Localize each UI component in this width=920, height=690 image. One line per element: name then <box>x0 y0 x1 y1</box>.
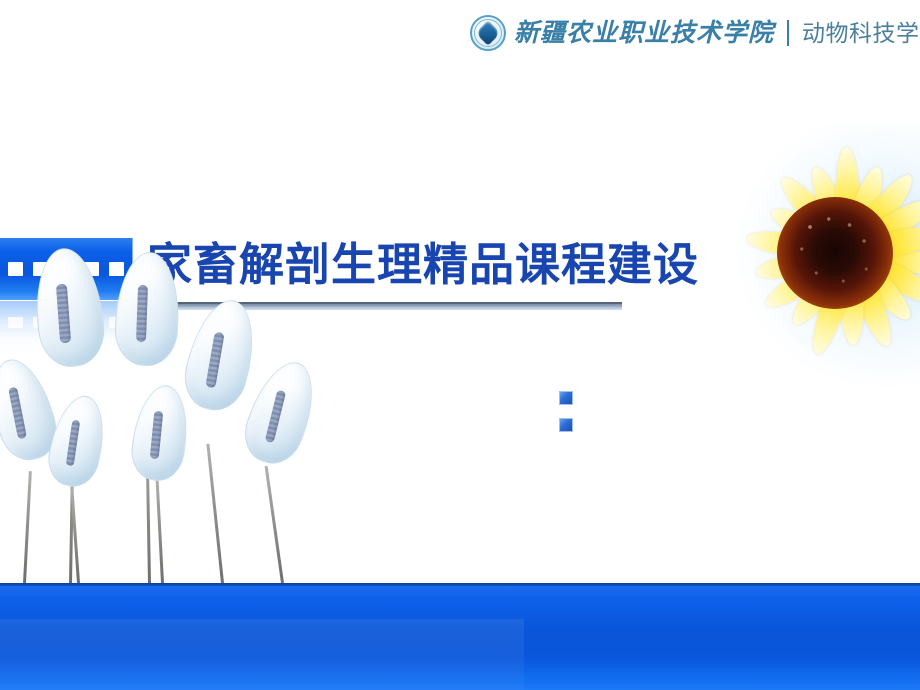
sunflower-petal <box>804 163 861 257</box>
sunflower-petal <box>838 252 865 345</box>
department-name: 动物科技学院 <box>802 22 920 45</box>
sunflower-petal <box>848 219 920 264</box>
peace-lily-stem <box>265 466 284 583</box>
sunflower-graphic <box>727 118 920 388</box>
film-strip-bar <box>0 238 133 300</box>
sunflower-glow <box>737 123 920 388</box>
logo-divider <box>787 20 789 46</box>
sunflower-petal <box>785 245 859 331</box>
sunflower-petal <box>745 226 851 264</box>
sunflower-petal <box>839 163 890 256</box>
sunflower-petal <box>754 241 853 284</box>
film-strip-bar-reflection <box>0 301 133 355</box>
sunflower-petal <box>839 248 899 350</box>
sunflower-petal <box>844 242 920 312</box>
peace-lily-spathe <box>236 353 327 472</box>
peace-lily-flower <box>252 348 310 583</box>
film-strip-hole <box>109 262 124 276</box>
peace-lily-spadix <box>8 387 27 439</box>
peace-lily-stem <box>23 471 31 583</box>
sunflower-petal <box>844 191 920 262</box>
footer-band-sheen <box>0 619 524 690</box>
peace-lily-spadix <box>265 390 287 443</box>
peace-lily-stem <box>70 483 79 583</box>
film-strip-hole <box>33 262 48 276</box>
film-strip-hole-reflection <box>84 317 99 328</box>
film-strip-hole-reflection <box>109 317 124 328</box>
presentation-slide: 新疆农业职业技术学院 动物科技学院 家畜解剖生理精品课程建设 <box>0 0 920 690</box>
film-strip-hole-reflection <box>33 317 48 328</box>
sunflower-petal <box>767 201 856 264</box>
peace-lily-stem <box>145 428 150 583</box>
film-strip-hole <box>84 262 99 276</box>
peace-lily-flower <box>52 383 103 583</box>
peace-lily-stem <box>206 444 223 583</box>
peace-lily-spathe <box>0 352 64 467</box>
peace-lily-spathe <box>177 293 264 417</box>
list-item[interactable] <box>559 418 573 432</box>
sunflower-petal <box>774 170 859 260</box>
peace-lily-spathe <box>43 391 112 491</box>
sunflower-petal <box>841 168 920 260</box>
sunflower-petals <box>745 140 920 365</box>
film-strip-hole-reflection <box>58 317 73 328</box>
sunflower-petal <box>848 241 920 278</box>
sunflower-center <box>777 197 893 309</box>
film-strip-hole <box>8 262 23 276</box>
film-strip-hole-reflection <box>8 317 23 328</box>
sunflower-petal <box>806 249 862 357</box>
peace-lily-graphic <box>0 348 344 583</box>
peace-lily-stem <box>155 475 163 583</box>
footer-band <box>0 583 920 690</box>
peace-lily-stem <box>69 433 74 583</box>
peace-lily-flower <box>134 373 187 583</box>
institution-emblem-icon <box>470 15 506 51</box>
title-underline <box>147 304 622 310</box>
title-block: 家畜解剖生理精品课程建设 <box>0 238 700 302</box>
sunflower-petal <box>761 242 857 314</box>
peace-lily-spadix <box>65 420 80 467</box>
peace-lily-flower <box>190 287 252 583</box>
sunflower-petal <box>841 244 918 325</box>
header-logo: 新疆农业职业技术学院 动物科技学院 <box>470 12 880 54</box>
peace-lily-spadix <box>149 411 162 460</box>
list-item[interactable] <box>559 391 573 405</box>
page-title: 家畜解剖生理精品课程建设 <box>147 234 699 296</box>
institution-name: 新疆农业职业技术学院 <box>514 21 774 46</box>
sunflower-petal <box>834 146 862 253</box>
film-strip-hole <box>58 262 73 276</box>
bullet-list <box>559 391 583 445</box>
peace-lily-flower <box>0 346 51 583</box>
peace-lily-spathe <box>128 381 194 484</box>
peace-lily-spadix <box>206 331 225 388</box>
